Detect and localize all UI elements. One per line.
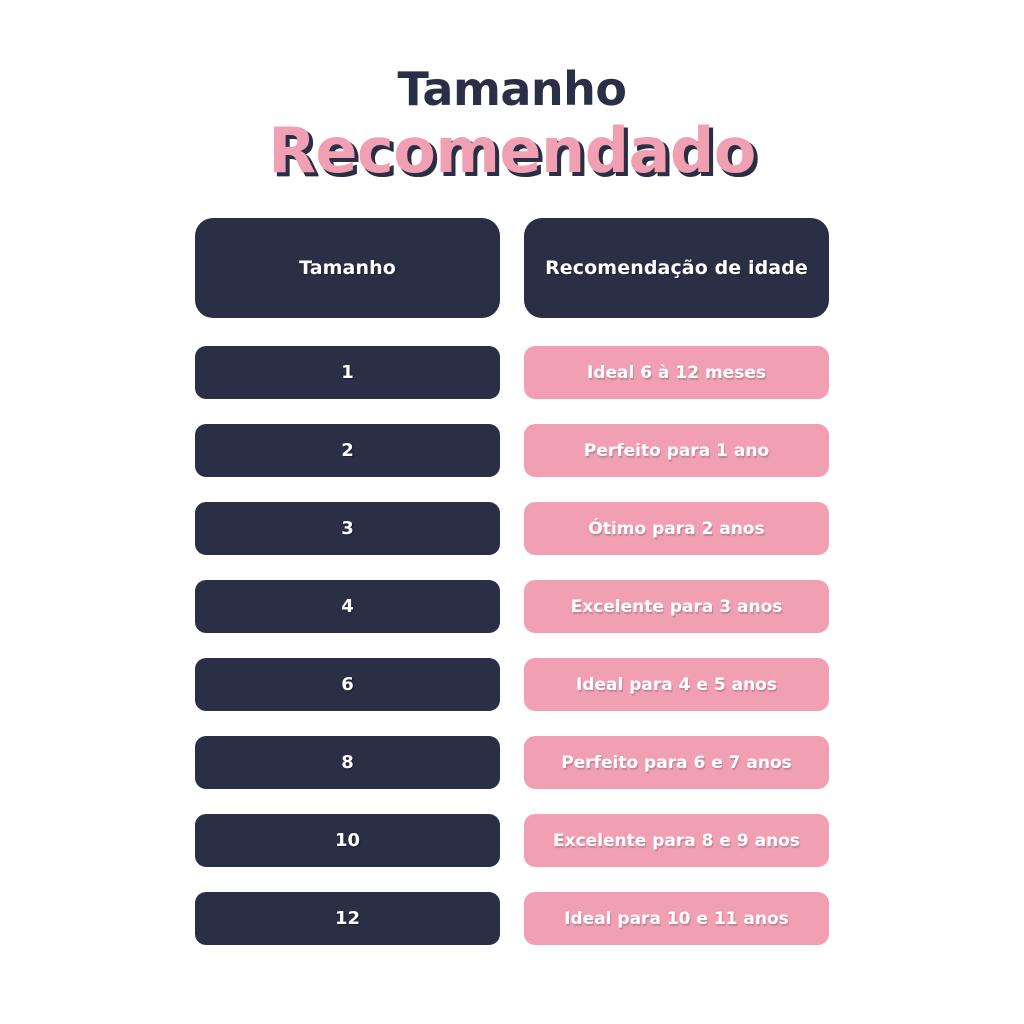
table-row: 4 Excelente para 3 anos <box>195 580 829 633</box>
size-table: Tamanho Recomendação de idade 1 Ideal 6 … <box>195 218 829 945</box>
table-row: 12 Ideal para 10 e 11 anos <box>195 892 829 945</box>
cell-age-value: Ideal para 10 e 11 anos <box>524 892 829 945</box>
poster-title: Tamanho Recomendado <box>0 64 1024 186</box>
cell-size-value: 3 <box>195 502 500 555</box>
table-row: 10 Excelente para 8 e 9 anos <box>195 814 829 867</box>
cell-size-value: 8 <box>195 736 500 789</box>
table-header-row: Tamanho Recomendação de idade <box>195 218 829 318</box>
cell-size-value: 1 <box>195 346 500 399</box>
table-row: 6 Ideal para 4 e 5 anos <box>195 658 829 711</box>
title-line-recomendado: Recomendado <box>0 116 1024 186</box>
table-row: 8 Perfeito para 6 e 7 anos <box>195 736 829 789</box>
cell-age-value: Perfeito para 6 e 7 anos <box>524 736 829 789</box>
cell-size-value: 6 <box>195 658 500 711</box>
header-cell-age: Recomendação de idade <box>524 218 829 318</box>
table-row: 3 Ótimo para 2 anos <box>195 502 829 555</box>
cell-size-value: 4 <box>195 580 500 633</box>
cell-size-value: 10 <box>195 814 500 867</box>
cell-age-value: Perfeito para 1 ano <box>524 424 829 477</box>
table-row: 1 Ideal 6 à 12 meses <box>195 346 829 399</box>
cell-age-value: Ótimo para 2 anos <box>524 502 829 555</box>
title-line-tamanho: Tamanho <box>0 64 1024 114</box>
header-cell-size: Tamanho <box>195 218 500 318</box>
cell-age-value: Ideal 6 à 12 meses <box>524 346 829 399</box>
cell-age-value: Excelente para 8 e 9 anos <box>524 814 829 867</box>
table-row: 2 Perfeito para 1 ano <box>195 424 829 477</box>
cell-size-value: 2 <box>195 424 500 477</box>
size-recommendation-poster: Tamanho Recomendado Tamanho Recomendação… <box>0 0 1024 1024</box>
cell-age-value: Ideal para 4 e 5 anos <box>524 658 829 711</box>
cell-size-value: 12 <box>195 892 500 945</box>
cell-age-value: Excelente para 3 anos <box>524 580 829 633</box>
